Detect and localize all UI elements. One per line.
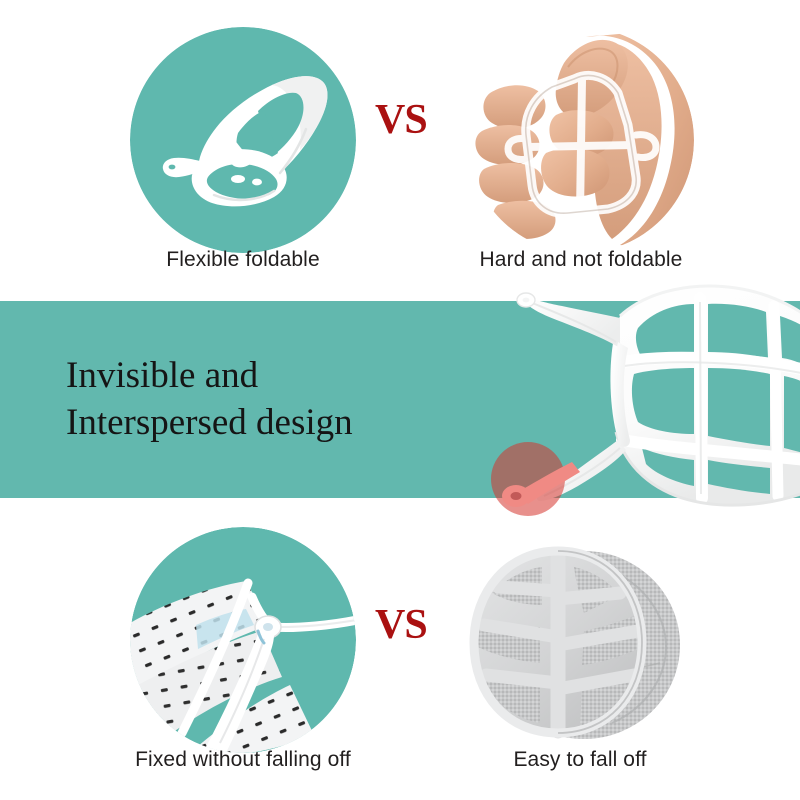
infographic-page: Flexible foldable VS <box>0 0 800 800</box>
bottom-right-caption: Easy to fall off <box>462 748 698 772</box>
vs-label-bottom: VS <box>375 604 427 646</box>
gray-leaf-bracket-falling-off-illustration <box>462 527 698 753</box>
top-left-caption: Flexible foldable <box>130 248 356 272</box>
banner-heading: Invisible and Interspersed design <box>66 352 486 447</box>
bottom-left-comparison-image <box>130 527 356 753</box>
bottom-right-comparison-image <box>462 527 698 753</box>
bottom-left-caption: Fixed without falling off <box>113 748 373 772</box>
top-right-caption: Hard and not foldable <box>448 248 714 272</box>
top-right-comparison-image <box>468 27 694 253</box>
bracket-on-mask-earloop-illustration <box>130 527 356 753</box>
vs-label-top: VS <box>375 99 427 141</box>
highlighted-ear-hook-icon <box>488 440 584 520</box>
hand-holding-rigid-bracket-illustration <box>468 27 694 253</box>
top-left-comparison-image <box>130 27 356 253</box>
folded-bracket-illustration <box>130 27 356 253</box>
